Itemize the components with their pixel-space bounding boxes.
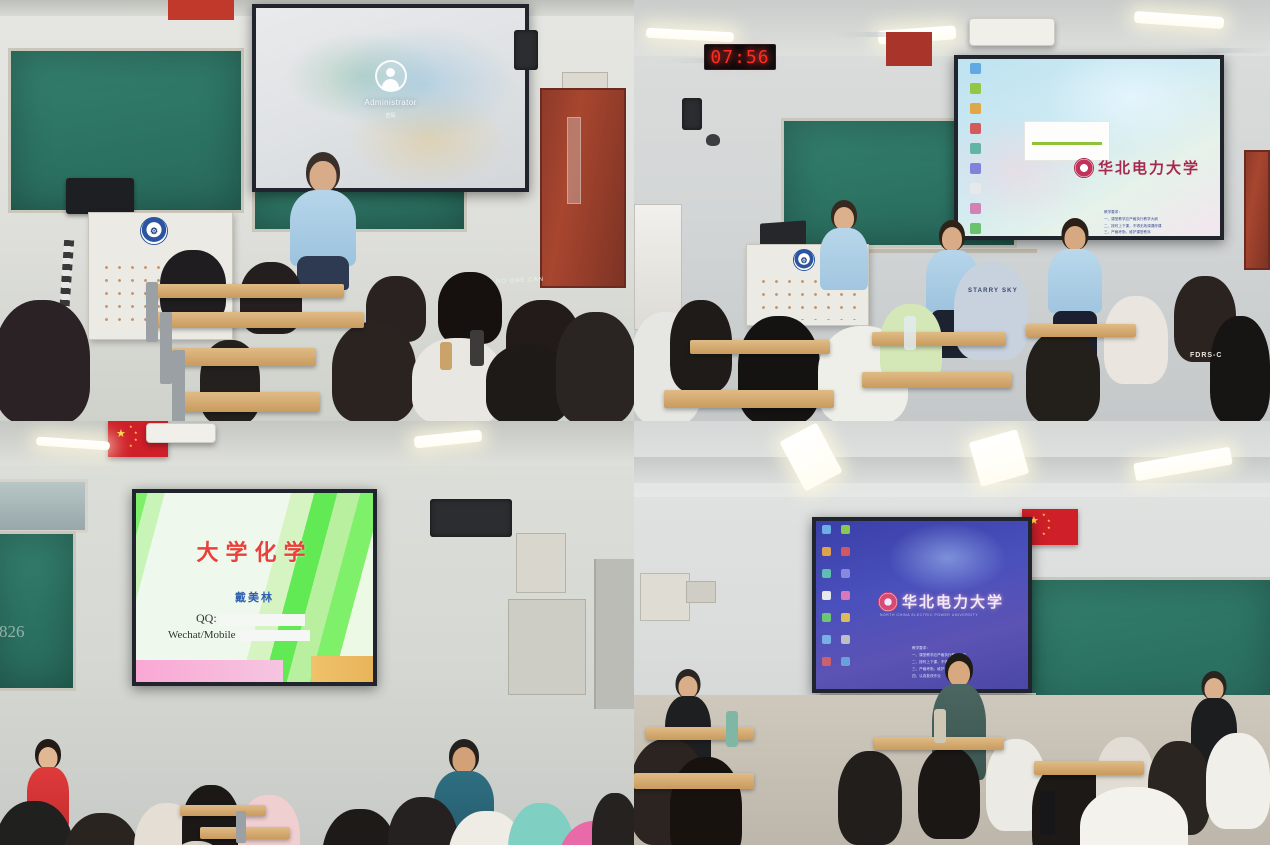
projection-screen: 华北电力大学 NORTH CHINA ELECTRIC POWER UNIVER… bbox=[812, 517, 1032, 693]
panel-top-left: Administrator 密码 ⚙ bbox=[0, 0, 634, 421]
desk bbox=[176, 392, 320, 412]
desktop-icon[interactable] bbox=[822, 635, 831, 644]
windows-login-panel: Administrator 密码 bbox=[256, 60, 525, 119]
thermos bbox=[440, 342, 452, 370]
desktop-icon[interactable] bbox=[970, 163, 981, 174]
university-emblem-icon: ⚙ bbox=[140, 217, 168, 245]
projection-screen: 大学化学 戴美林 QQ: Wechat/Mobile bbox=[132, 489, 377, 686]
door-glass bbox=[567, 117, 582, 203]
user-avatar-icon bbox=[375, 60, 407, 92]
electrical-switch-panel bbox=[686, 581, 716, 603]
slide-contact-qq-label: QQ: bbox=[196, 611, 217, 626]
flag-small-star-icon: ★ bbox=[1047, 519, 1051, 523]
desk bbox=[1034, 761, 1144, 775]
door-frame bbox=[594, 559, 634, 709]
desktop-icon[interactable] bbox=[970, 103, 981, 114]
panel-bottom-right: ★ ★ ★ ★ ★ bbox=[634, 421, 1270, 845]
desktop-icon[interactable] bbox=[822, 613, 831, 622]
slide-author: 戴美林 bbox=[136, 589, 373, 605]
student-silhouette bbox=[670, 757, 742, 845]
student-silhouette bbox=[556, 312, 634, 421]
teacher-figure bbox=[288, 152, 358, 282]
ceiling-projector bbox=[146, 423, 216, 443]
desk-side bbox=[160, 312, 172, 384]
slide-decor-band bbox=[311, 656, 373, 682]
wall-speaker bbox=[430, 499, 512, 537]
university-logo: 华北电力大学 bbox=[878, 591, 1004, 612]
desktop-icon[interactable] bbox=[841, 569, 850, 578]
desktop-icon[interactable] bbox=[841, 525, 850, 534]
notice-line: 一、课堂教学应严格执行教学大纲 bbox=[1104, 216, 1216, 223]
desk bbox=[154, 312, 364, 328]
flag-small-star-icon: ★ bbox=[134, 438, 138, 442]
desktop-icon[interactable] bbox=[841, 657, 850, 666]
shirt-text: STARRY SKY bbox=[968, 288, 1018, 294]
student-silhouette bbox=[332, 322, 416, 421]
student-silhouette bbox=[918, 747, 980, 839]
student-silhouette bbox=[1026, 330, 1100, 421]
desk bbox=[166, 348, 316, 366]
photo-collage: Administrator 密码 ⚙ bbox=[0, 0, 1270, 845]
flag-small-star-icon: ★ bbox=[129, 425, 133, 429]
thermos bbox=[470, 330, 484, 366]
red-wall-panel bbox=[886, 32, 932, 66]
dialog-window[interactable] bbox=[1024, 121, 1110, 161]
university-logo-text: 华北电力大学 bbox=[1098, 157, 1200, 178]
projection-screen: 华北电力大学 教学要求： 一、课堂教学应严格执行教学大纲 二、按时上下课，不得无… bbox=[954, 55, 1224, 240]
flag-small-star-icon: ★ bbox=[1042, 513, 1046, 517]
chalk-writing: 826 bbox=[0, 622, 25, 642]
notice-line: 二、按时上下课，不得无故调课停课 bbox=[1104, 223, 1216, 230]
slide-contact-wechat-label: Wechat/Mobile bbox=[168, 629, 236, 641]
student-silhouette bbox=[1206, 733, 1270, 829]
led-clock: 07:56 bbox=[704, 44, 776, 70]
student-silhouette bbox=[838, 751, 902, 845]
desktop-icon[interactable] bbox=[970, 203, 981, 214]
window bbox=[0, 479, 88, 533]
notice-line: 四、认真批改作业 bbox=[1104, 236, 1216, 240]
university-logo-subtitle: NORTH CHINA ELECTRIC POWER UNIVERSITY bbox=[880, 613, 978, 617]
desktop-icon[interactable] bbox=[970, 83, 981, 94]
desk-side bbox=[146, 282, 158, 342]
desk bbox=[664, 390, 834, 408]
panel-top-right: 07:56 bbox=[634, 0, 1270, 421]
notice-line: 教学要求： bbox=[1104, 209, 1216, 216]
desktop-icon[interactable] bbox=[841, 613, 850, 622]
desk bbox=[634, 773, 754, 789]
thermos bbox=[1040, 791, 1055, 835]
desktop-icon[interactable] bbox=[822, 591, 831, 600]
wall-cabinet bbox=[634, 204, 682, 330]
university-logo-text: 华北电力大学 bbox=[902, 591, 1004, 612]
thermos bbox=[726, 711, 738, 747]
flag-small-star-icon: ★ bbox=[1042, 532, 1046, 536]
ceiling-fan bbox=[1182, 48, 1270, 53]
university-logo: 华北电力大学 bbox=[1074, 157, 1200, 178]
ceiling-projector bbox=[969, 18, 1055, 46]
flag-small-star-icon: ★ bbox=[134, 431, 138, 435]
slide-contact-qq: QQ: bbox=[196, 611, 305, 626]
university-emblem-icon bbox=[878, 592, 898, 612]
desktop-icon[interactable] bbox=[822, 547, 831, 556]
student-silhouette bbox=[1210, 316, 1270, 421]
panel-bottom-left: ★ ★ ★ ★ ★ 826 大学化学 戴美林 QQ: Wechat/Mo bbox=[0, 421, 634, 845]
desk bbox=[690, 340, 830, 354]
login-user-name: Administrator bbox=[256, 98, 525, 107]
notice-line: 教学要求： bbox=[912, 645, 1022, 652]
wall-speaker bbox=[514, 30, 538, 70]
thermos bbox=[934, 709, 946, 743]
desktop-icon[interactable] bbox=[970, 63, 981, 74]
desktop-icon[interactable] bbox=[970, 143, 981, 154]
red-door bbox=[540, 88, 626, 288]
electrical-box bbox=[640, 573, 690, 621]
redacted-value bbox=[219, 614, 305, 626]
desk bbox=[872, 332, 1006, 346]
desktop-icon[interactable] bbox=[822, 657, 831, 666]
desktop-icon[interactable] bbox=[841, 547, 850, 556]
desktop-monitor bbox=[66, 178, 134, 214]
staff-figure bbox=[818, 200, 870, 304]
wall-speaker bbox=[682, 98, 702, 130]
red-banner bbox=[168, 0, 234, 20]
desktop-icon-column bbox=[962, 63, 988, 232]
electrical-box bbox=[516, 533, 566, 593]
university-emblem-icon bbox=[1074, 158, 1094, 178]
dome-camera-icon bbox=[706, 134, 720, 146]
flag-small-star-icon: ★ bbox=[129, 444, 133, 448]
notice-line: 三、严格考勤，维护课堂秩序 bbox=[1104, 229, 1216, 236]
slide-contact-wechat: Wechat/Mobile bbox=[168, 629, 310, 641]
desktop-icon[interactable] bbox=[970, 123, 981, 134]
desktop-icon[interactable] bbox=[841, 591, 850, 600]
desk bbox=[148, 284, 344, 298]
flag-small-star-icon: ★ bbox=[1047, 526, 1051, 530]
redacted-value bbox=[238, 630, 310, 641]
login-sub-label: 密码 bbox=[256, 112, 525, 119]
shirt-text: FDRS-C bbox=[1190, 352, 1222, 359]
desk bbox=[1026, 324, 1136, 337]
water-bottle bbox=[904, 316, 916, 350]
desk bbox=[180, 805, 266, 816]
desk-side bbox=[172, 350, 185, 421]
desktop-icon-grid bbox=[819, 525, 861, 683]
wallpaper-notice-text: 教学要求： 一、课堂教学应严格执行教学大纲 二、按时上下课，不得无故调课停课 三… bbox=[1104, 209, 1216, 240]
desktop-icon[interactable] bbox=[970, 183, 981, 194]
electrical-panel bbox=[508, 599, 586, 695]
university-emblem-icon: ⚙ bbox=[793, 249, 815, 271]
desktop-icon[interactable] bbox=[822, 569, 831, 578]
slide-title: 大学化学 bbox=[136, 535, 373, 567]
student-silhouette bbox=[0, 300, 90, 421]
blackboard: 826 bbox=[0, 531, 76, 691]
desktop-icon[interactable] bbox=[841, 635, 850, 644]
flag-big-star-icon: ★ bbox=[116, 429, 126, 440]
desk bbox=[862, 372, 1012, 388]
desk-side bbox=[236, 811, 246, 843]
student-silhouette bbox=[1104, 296, 1168, 384]
slide-decor-band bbox=[136, 660, 283, 682]
side-door bbox=[1244, 150, 1270, 270]
desktop-icon[interactable] bbox=[822, 525, 831, 534]
led-clock-time: 07:56 bbox=[710, 47, 769, 68]
